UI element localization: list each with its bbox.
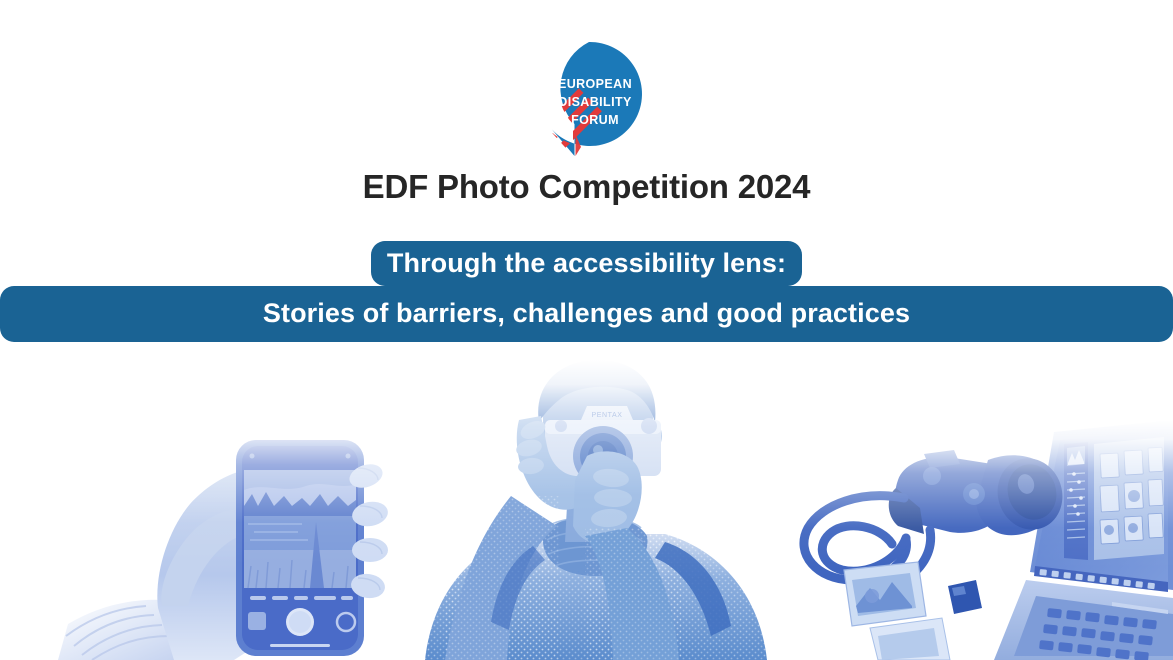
poster-canvas: EUROPEAN DISABILITY FORUM EDF Photo Comp… <box>0 0 1173 660</box>
photo-camera-gear-and-laptop <box>782 420 1173 660</box>
subtitle-line-2: Stories of barriers, challenges and good… <box>0 286 1173 342</box>
logo-line-2: DISABILITY <box>558 95 632 109</box>
dslr-camera <box>889 450 1072 538</box>
page-title: EDF Photo Competition 2024 <box>0 168 1173 206</box>
logo-line-1: EUROPEAN <box>557 77 631 91</box>
european-disability-forum-logo: EUROPEAN DISABILITY FORUM <box>529 38 645 156</box>
photo-person-with-camera: PENTAX <box>415 360 775 660</box>
subtitle-line-1: Through the accessibility lens: <box>371 241 802 286</box>
logo-line-3: FORUM <box>571 113 619 127</box>
printed-photos <box>844 562 950 660</box>
logo-container: EUROPEAN DISABILITY FORUM <box>0 38 1173 156</box>
svg-text:PENTAX: PENTAX <box>591 412 622 419</box>
subtitle-block: Through the accessibility lens: Stories … <box>0 243 1173 342</box>
photo-strip: PENTAX <box>0 355 1173 660</box>
photo-hand-with-smartphone <box>58 410 418 660</box>
lens-cap <box>865 589 879 603</box>
sd-card <box>948 580 982 614</box>
